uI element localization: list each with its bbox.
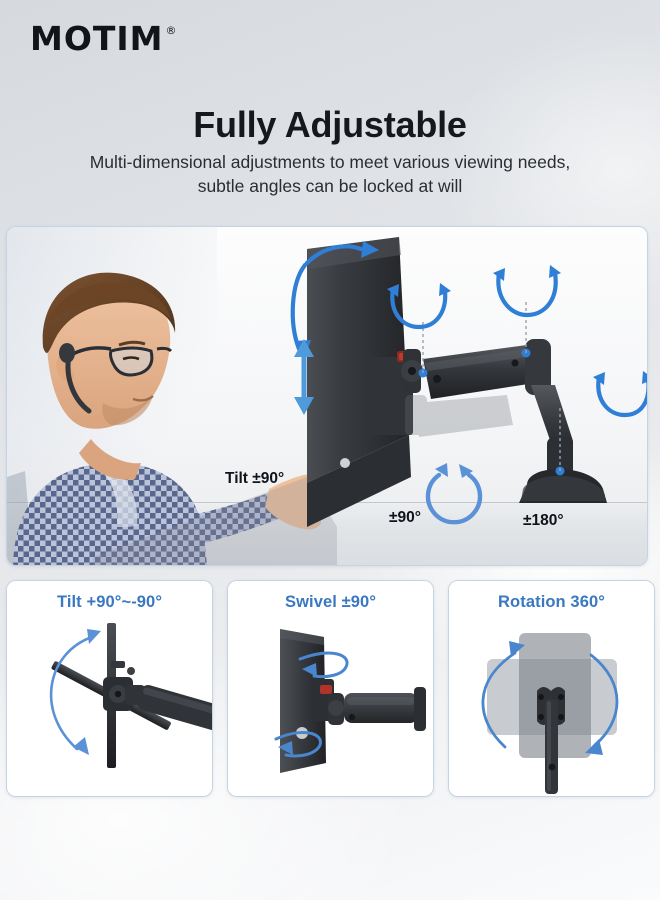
tile-swivel: Swivel ±90°: [227, 580, 434, 797]
infographic-page: MOTIM ® Fully Adjustable Multi-dimension…: [0, 0, 660, 900]
page-title: Fully Adjustable: [0, 104, 660, 146]
tile-tilt-illustration: [7, 581, 212, 796]
page-subtitle: Multi-dimensional adjustments to meet va…: [0, 150, 660, 198]
tile-rotation: Rotation 360°: [448, 580, 655, 797]
subtitle-line-1: Multi-dimensional adjustments to meet va…: [90, 152, 571, 172]
annotation-swivel-upper: ±180°: [523, 512, 564, 530]
brand-name: MOTIM: [30, 22, 164, 55]
annotation-tilt: Tilt ±90°: [225, 470, 284, 488]
brand-logo: MOTIM ®: [30, 22, 177, 55]
registered-trademark-icon: ®: [166, 24, 177, 37]
tile-swivel-illustration: [228, 581, 433, 796]
hero-photo-panel: Tilt ±90° ±90° ±180° Swivel ±180° 360° R…: [6, 226, 648, 566]
annotation-bracket-tilt: ±90°: [389, 509, 421, 527]
tile-rotation-illustration: [449, 581, 654, 796]
subtitle-line-2: subtle angles can be locked at will: [0, 174, 660, 198]
tile-tilt: Tilt +90°~-90°: [6, 580, 213, 797]
